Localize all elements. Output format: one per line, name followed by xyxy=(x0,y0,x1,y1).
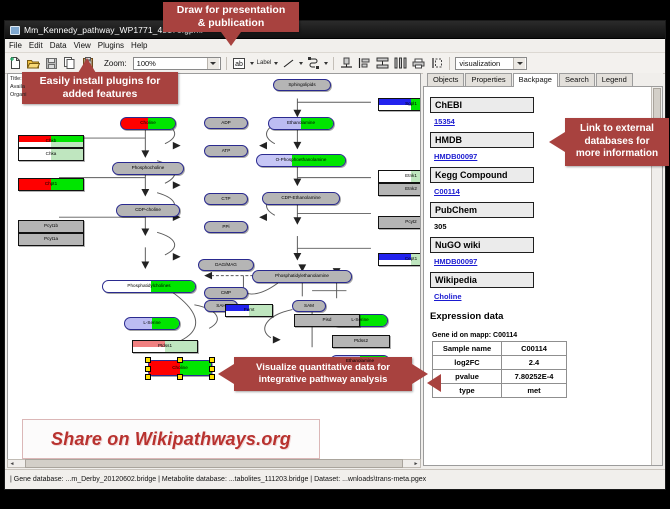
node-label: Ethanolamine xyxy=(346,359,374,364)
table-row: type met xyxy=(433,384,567,398)
db-header-hmdb: HMDB xyxy=(430,132,534,148)
toolbar-separator xyxy=(226,57,227,70)
menu-bar: File Edit Data View Plugins Help xyxy=(5,39,665,53)
label-dropdown-icon[interactable] xyxy=(274,62,278,65)
gene-node[interactable]: Pemt xyxy=(225,304,273,317)
callout-expression-arrow xyxy=(427,374,441,392)
gene-node[interactable]: Pisd xyxy=(294,314,360,327)
gene-node[interactable]: Etnk1 xyxy=(378,170,421,183)
node-label: CTP xyxy=(221,197,230,202)
align-bottom-icon[interactable] xyxy=(339,56,354,71)
title-bar: Mm_Kennedy_pathway_WP1771_45176.gpml xyxy=(5,21,665,39)
node-label: Ptdss2 xyxy=(354,339,368,344)
callout-link-line1: Link to external xyxy=(580,123,654,136)
selection-handle[interactable] xyxy=(145,366,151,372)
open-folder-icon[interactable] xyxy=(26,56,41,71)
db-header-nugo: NuGO wiki xyxy=(430,237,534,253)
table-row: pvalue 7.80252E-4 xyxy=(433,370,567,384)
selection-handle[interactable] xyxy=(177,374,183,380)
callout-plugins: Easily install plugins for added feature… xyxy=(22,72,178,104)
info-label-organism: Organi xyxy=(10,91,27,99)
metabolite-node[interactable]: CTP xyxy=(204,193,248,205)
scrollbar-thumb[interactable] xyxy=(25,459,403,468)
metabolite-node[interactable]: Phosphocholine xyxy=(112,162,184,175)
menu-item-file[interactable]: File xyxy=(9,41,22,50)
node-label: Phosphocholine xyxy=(132,166,165,171)
visualization-chevron-icon[interactable] xyxy=(513,58,525,69)
menu-item-help[interactable]: Help xyxy=(131,41,147,50)
gene-node[interactable]: Sgpl1 xyxy=(378,98,421,111)
callout-link-arrow xyxy=(549,132,565,152)
selection-handle[interactable] xyxy=(145,374,151,380)
table-cell-key: type xyxy=(433,384,502,398)
db-header-chebi: ChEBI xyxy=(430,97,534,113)
line-tool-icon[interactable] xyxy=(281,56,296,71)
menu-item-plugins[interactable]: Plugins xyxy=(98,41,124,50)
gene-node[interactable]: Ptdss2 xyxy=(332,335,390,348)
menu-item-data[interactable]: Data xyxy=(50,41,67,50)
node-label: ATP xyxy=(222,149,231,154)
zoom-combo[interactable]: 100% xyxy=(133,57,221,70)
connector-dropdown-icon[interactable] xyxy=(324,62,328,65)
scroll-right-arrow-icon[interactable]: ► xyxy=(412,460,420,467)
metabolite-node[interactable]: L-Serine xyxy=(124,317,180,330)
db-link-nugo[interactable]: HMDB00097 xyxy=(434,257,650,266)
node-label: L-Serine xyxy=(143,321,160,326)
node-label: Sgpl1 xyxy=(405,102,417,107)
tab-backpage[interactable]: Backpage xyxy=(513,73,558,87)
db-value-pubchem: 305 xyxy=(434,222,650,231)
node-label: O-Phosphoethanolamine xyxy=(276,158,327,163)
gene-node[interactable]: Ptdss1 xyxy=(132,340,198,353)
node-label: CDP-Ethanolamine xyxy=(281,196,320,201)
table-cell-key: pvalue xyxy=(433,370,502,384)
callout-draw-arrow xyxy=(221,32,241,46)
expression-table: Sample name C00114 log2FC 2.4 pvalue 7.8… xyxy=(432,341,567,398)
metabolite-node[interactable]: ADP xyxy=(204,117,248,129)
menu-item-view[interactable]: View xyxy=(74,41,91,50)
pathway-canvas[interactable]: Title: Availa Organi xyxy=(7,73,421,466)
metabolite-node[interactable]: Phosphatidylcholines xyxy=(102,280,196,293)
metabolite-node[interactable]: Phosphatidylethanolamine xyxy=(252,270,352,283)
node-label: Phosphatidylcholines xyxy=(127,284,170,289)
share-banner-text: Share on Wikipathways.org xyxy=(51,429,291,450)
selection-handle[interactable] xyxy=(145,357,151,363)
callout-draw-line2: & publication xyxy=(198,17,265,30)
node-label: SAH xyxy=(216,304,225,309)
table-cell-value: 2.4 xyxy=(502,356,567,370)
node-label: Pemt xyxy=(244,308,255,313)
node-label: Chka xyxy=(46,152,57,157)
metabolite-node[interactable]: SAM xyxy=(292,300,326,312)
node-label: Phosphatidylethanolamine xyxy=(275,274,329,279)
table-cell-value: C00114 xyxy=(502,342,567,356)
gene-node[interactable]: Etnk2 xyxy=(378,183,421,196)
gene-node[interactable]: Cept1 xyxy=(378,253,421,266)
selection-handle[interactable] xyxy=(209,366,215,372)
tab-objects[interactable]: Objects xyxy=(427,73,464,86)
gene-id-line: Gene id on mapp: C00114 xyxy=(432,332,650,339)
db-header-pubchem: PubChem xyxy=(430,202,534,218)
gene-node[interactable]: Pcyt2 xyxy=(378,216,421,229)
table-cell-value: met xyxy=(502,384,567,398)
node-label: Choline xyxy=(172,366,188,371)
table-row: log2FC 2.4 xyxy=(433,356,567,370)
canvas-info-labels: Title: Availa Organi xyxy=(10,75,27,99)
callout-draw-line1: Draw for presentation xyxy=(177,4,286,17)
text-label-icon[interactable]: ab xyxy=(232,56,247,71)
status-bar: | Gene database: ...m_Derby_20120602.bri… xyxy=(5,469,665,489)
metabolite-node[interactable]: Ethanolamine xyxy=(268,117,334,130)
callout-plugins-line1: Easily install plugins for xyxy=(40,75,161,88)
save-icon[interactable] xyxy=(44,56,59,71)
metabolite-node[interactable]: Sphingolipids xyxy=(273,79,331,91)
panel-tab-row: Objects Properties Backpage Search Legen… xyxy=(423,73,663,87)
copy-icon[interactable] xyxy=(62,56,77,71)
node-label: Etnk1 xyxy=(405,174,417,179)
callout-visualize-line1: Visualize quantitative data for xyxy=(256,362,390,374)
gene-node[interactable]: Chkb xyxy=(18,135,84,148)
new-file-icon[interactable] xyxy=(8,56,23,71)
callout-link-line3: more information xyxy=(576,148,658,161)
metabolite-node[interactable]: Choline xyxy=(120,117,176,130)
node-label: Pcyt1a xyxy=(44,237,58,242)
selection-handle[interactable] xyxy=(177,357,183,363)
app-icon xyxy=(9,24,20,35)
callout-visualize-arrow-right xyxy=(412,364,428,384)
expression-data-heading: Expression data xyxy=(430,311,650,322)
db-header-wikipedia: Wikipedia xyxy=(430,272,534,288)
db-link-kegg[interactable]: C00114 xyxy=(434,187,650,196)
node-label: ADP xyxy=(221,121,230,126)
canvas-horizontal-scrollbar[interactable]: ◄ ► xyxy=(7,459,421,468)
metabolite-node[interactable]: PPi xyxy=(204,221,248,233)
table-cell-key: Sample name xyxy=(433,342,502,356)
metabolite-node[interactable]: ATP xyxy=(204,145,248,157)
node-label: DAG/MAG xyxy=(215,263,237,268)
info-label-title: Title: xyxy=(10,75,27,83)
zoom-value: 100% xyxy=(137,59,156,68)
selection-handle[interactable] xyxy=(209,374,215,380)
print-icon[interactable] xyxy=(411,56,426,71)
db-header-kegg: Kegg Compound xyxy=(430,167,534,183)
node-label: Cept1 xyxy=(405,257,417,262)
selection-handle[interactable] xyxy=(209,357,215,363)
callout-visualize-arrow-left xyxy=(218,364,234,384)
align-left-icon[interactable] xyxy=(357,56,372,71)
node-label: Pcyt2 xyxy=(405,220,417,225)
metabolite-node[interactable]: CDP-choline xyxy=(116,204,180,217)
info-label-available: Availa xyxy=(10,83,27,91)
callout-link-line2: databases for xyxy=(584,136,649,149)
node-label: Ptdss1 xyxy=(158,344,172,349)
menu-item-edit[interactable]: Edit xyxy=(29,41,43,50)
node-label: Etnk2 xyxy=(405,187,417,192)
callout-draw: Draw for presentation & publication xyxy=(163,2,299,32)
node-label: Chpt1 xyxy=(45,182,57,187)
distribute-horizontal-icon[interactable] xyxy=(393,56,408,71)
metabolite-node[interactable]: CDP-Ethanolamine xyxy=(262,192,340,205)
zoom-label: Zoom: xyxy=(104,59,127,68)
node-label: Choline xyxy=(140,121,156,126)
callout-plugins-line2: added features xyxy=(63,88,138,101)
gene-node[interactable]: Chka xyxy=(18,148,84,161)
node-label: PPi xyxy=(222,225,229,230)
toolbar-separator-3 xyxy=(449,57,450,70)
node-label: SAM xyxy=(304,304,314,309)
metabolite-node[interactable]: DAG/MAG xyxy=(198,259,254,271)
gene-node[interactable]: Pcyt1b xyxy=(18,220,84,233)
share-banner: Share on Wikipathways.org xyxy=(22,419,320,459)
gene-node[interactable]: Pcyt1a xyxy=(18,233,84,246)
connector-tool-icon[interactable] xyxy=(306,56,321,71)
screenshot-root: Mm_Kennedy_pathway_WP1771_45176.gpml Fil… xyxy=(0,0,670,509)
db-link-wikipedia[interactable]: Choline xyxy=(434,292,650,301)
metabolite-node[interactable]: O-Phosphoethanolamine xyxy=(256,154,346,167)
status-text: | Gene database: ...m_Derby_20120602.bri… xyxy=(5,476,426,483)
text-label-dropdown-icon[interactable] xyxy=(250,62,254,65)
node-label: CMP xyxy=(221,291,231,296)
metabolite-node[interactable]: CMP xyxy=(204,287,248,299)
node-label: Chkb xyxy=(46,139,57,144)
toolbar-separator-2 xyxy=(333,57,334,70)
visualization-value: visualization xyxy=(459,59,500,68)
group-icon[interactable] xyxy=(429,56,444,71)
node-label: CDP-choline xyxy=(135,208,161,213)
line-dropdown-icon[interactable] xyxy=(299,62,303,65)
tab-search[interactable]: Search xyxy=(559,73,595,86)
gene-node[interactable]: Chpt1 xyxy=(18,178,84,191)
chevron-down-icon[interactable] xyxy=(207,58,219,69)
stack-vertical-icon[interactable] xyxy=(375,56,390,71)
tab-legend[interactable]: Legend xyxy=(596,73,633,86)
node-label: Pisd xyxy=(323,318,332,323)
node-label: Pcyt1b xyxy=(44,224,58,229)
node-label: L-Serine xyxy=(351,318,368,323)
callout-visualize-line2: integrative pathway analysis xyxy=(259,374,388,386)
scrollbar-thumb[interactable] xyxy=(653,88,661,120)
callout-link: Link to external databases for more info… xyxy=(565,118,669,166)
tab-properties[interactable]: Properties xyxy=(465,73,511,86)
table-cell-value: 7.80252E-4 xyxy=(502,370,567,384)
node-label: Ethanolamine xyxy=(287,121,315,126)
visualization-combo[interactable]: visualization xyxy=(455,57,527,70)
svg-text:ab: ab xyxy=(235,61,243,68)
table-row: Sample name C00114 xyxy=(433,342,567,356)
scroll-left-arrow-icon[interactable]: ◄ xyxy=(8,460,16,467)
label-tool-label: Label xyxy=(257,60,272,66)
table-cell-key: log2FC xyxy=(433,356,502,370)
callout-visualize: Visualize quantitative data for integrat… xyxy=(234,357,412,391)
node-label: Sphingolipids xyxy=(288,83,315,88)
callout-plugins-arrow xyxy=(78,58,96,73)
